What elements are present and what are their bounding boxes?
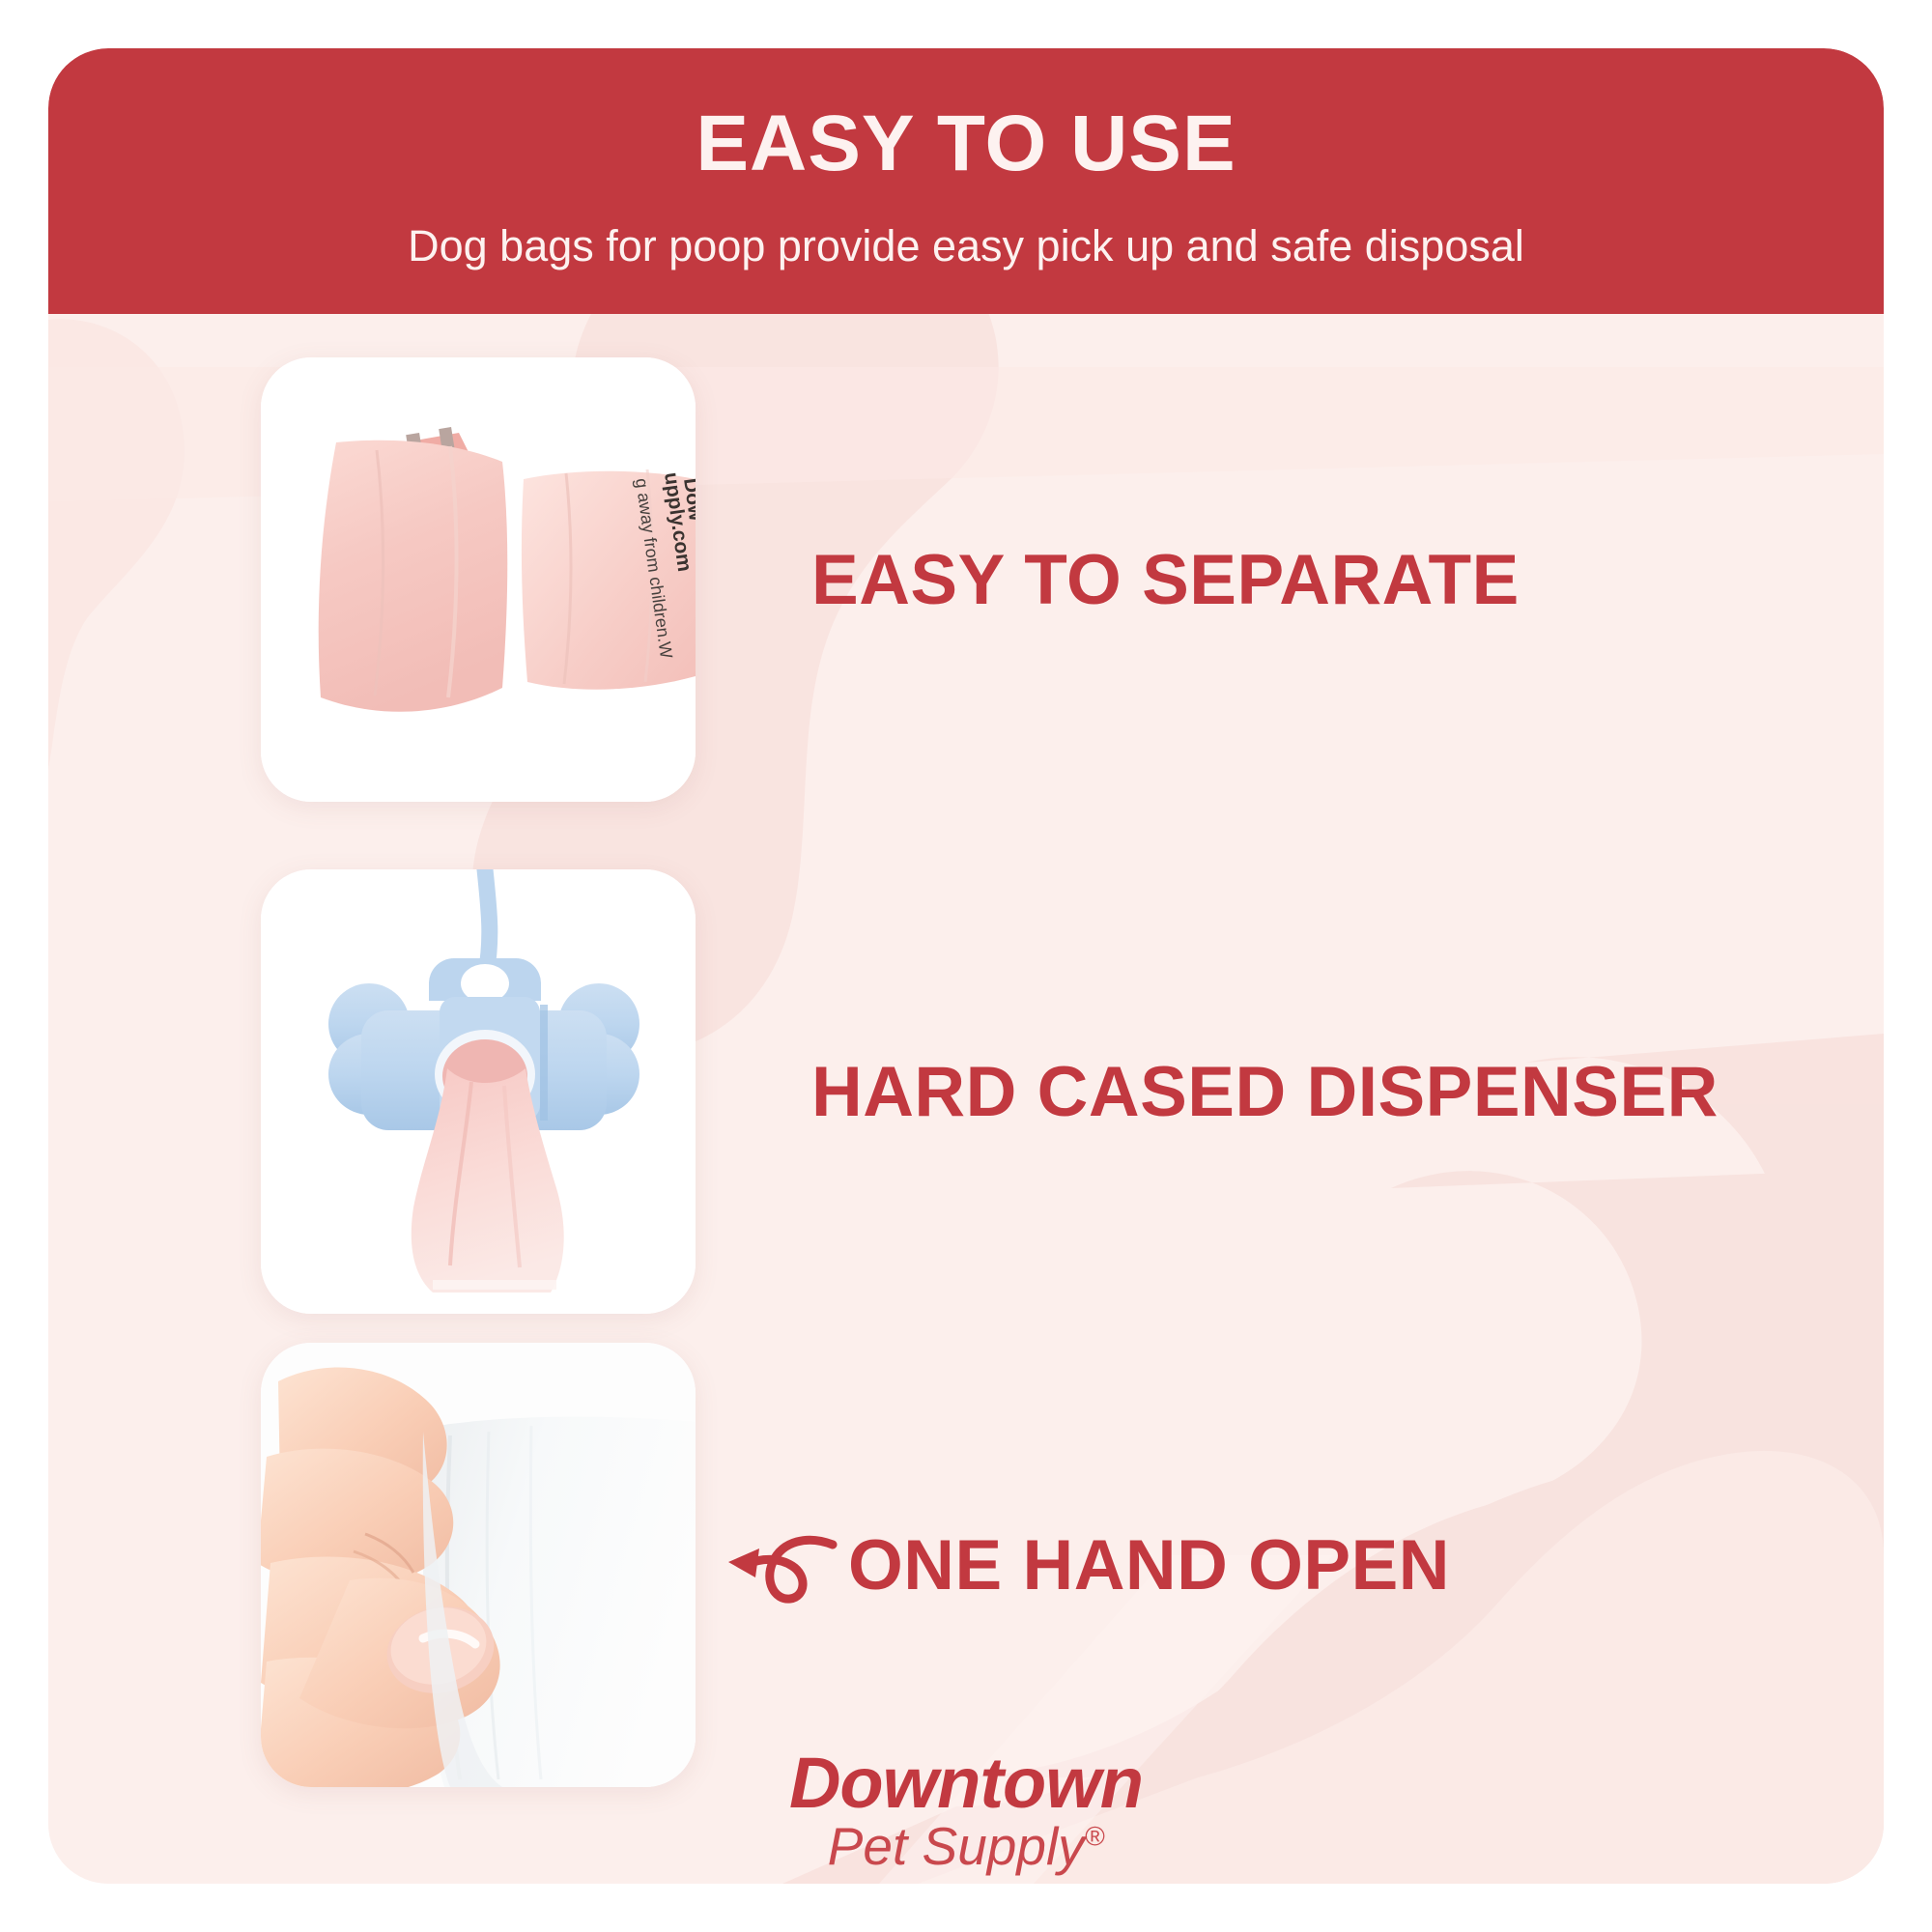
logo-tagline-text: Pet Supply [828,1816,1085,1876]
feature-label-dispenser: HARD CASED DISPENSER [811,869,1719,1314]
page-title: EASY TO USE [48,104,1884,184]
feature-row-easy-to-separate: upply.com Dow g away from children.W EAS… [48,357,1884,802]
product-photo-card-dispenser [261,869,696,1314]
brand-logo: Downtown Pet Supply® [48,1748,1884,1874]
photo-bone-dispenser [261,869,696,1314]
feature-label-text: ONE HAND OPEN [848,1525,1450,1605]
curved-loop-arrow-left-icon [724,1512,840,1618]
logo-wordmark-primary: Downtown [48,1748,1884,1819]
product-photo-card-one-hand [261,1343,696,1787]
page-subtitle: Dog bags for poop provide easy pick up a… [48,224,1884,268]
infographic-panel: EASY TO USE Dog bags for poop provide ea… [48,48,1884,1884]
feature-label-text: HARD CASED DISPENSER [811,1052,1719,1132]
product-photo-card-separate: upply.com Dow g away from children.W [261,357,696,802]
photo-bags-separating: upply.com Dow g away from children.W [261,357,696,802]
feature-row-hard-cased-dispenser: HARD CASED DISPENSER [48,869,1884,1314]
header-banner: EASY TO USE Dog bags for poop provide ea… [48,48,1884,314]
feature-row-one-hand-open: ONE HAND OPEN [48,1343,1884,1787]
feature-label-separate: EASY TO SEPARATE [811,357,1520,802]
logo-wordmark-secondary: Pet Supply® [48,1819,1884,1875]
feature-label-one-hand: ONE HAND OPEN [724,1343,1450,1787]
registered-trademark-icon: ® [1085,1821,1105,1851]
photo-hand-opening-bag [261,1343,696,1787]
feature-label-text: EASY TO SEPARATE [811,540,1520,620]
